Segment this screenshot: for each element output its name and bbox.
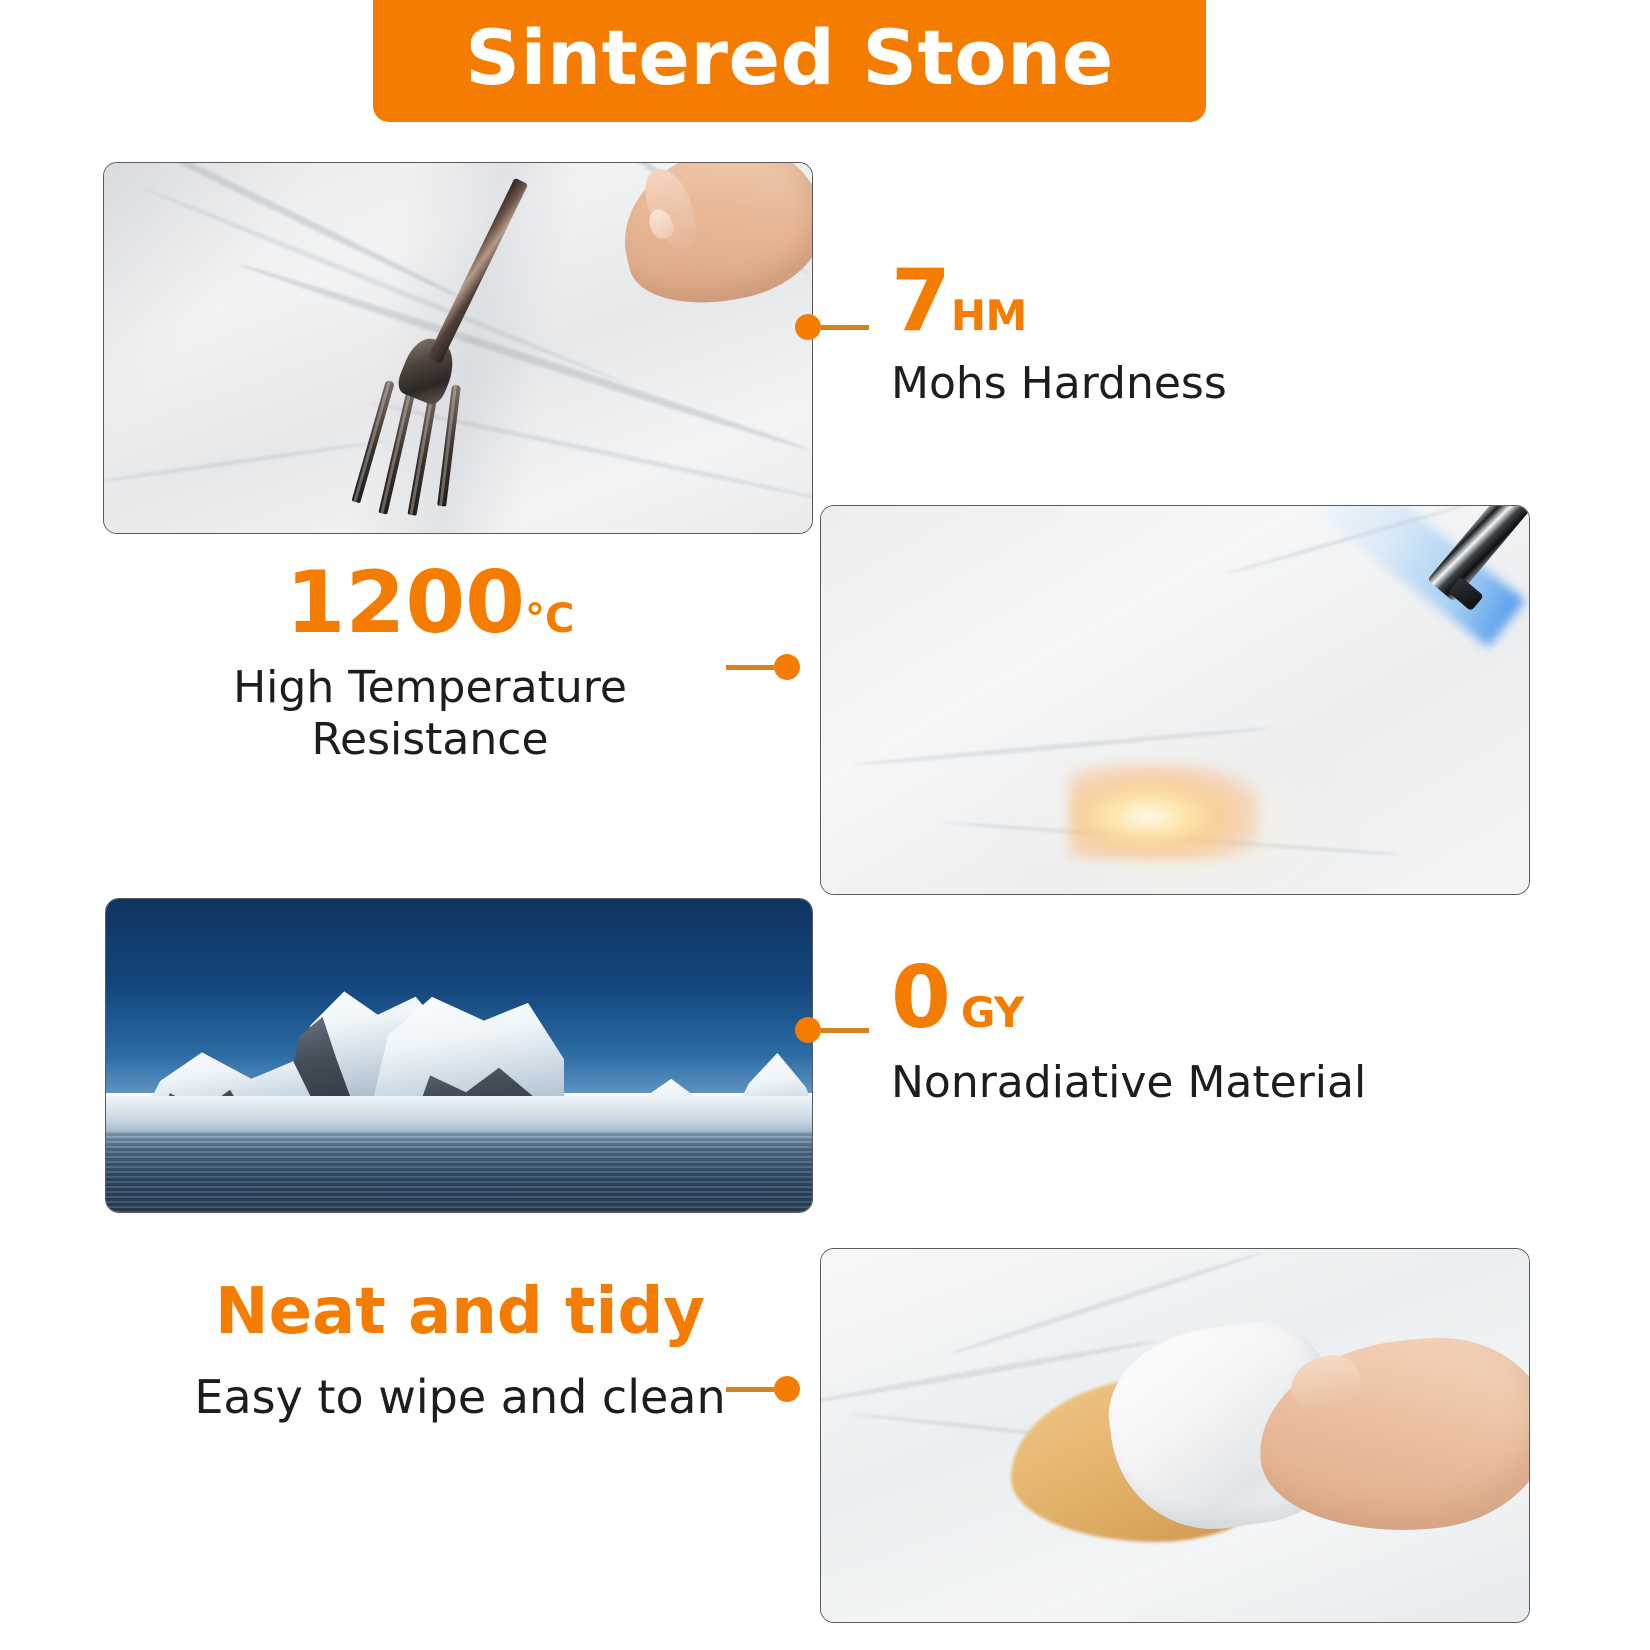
stat-number: 0 [891, 948, 951, 1048]
stat-number: 7 [891, 251, 951, 351]
page-title-banner: Sintered Stone [373, 0, 1206, 122]
stat-unit: HM [951, 291, 1027, 340]
connector-mohs [795, 314, 869, 340]
subtext-clean: Easy to wipe and clean [120, 1370, 800, 1424]
stat-label-line1: High Temperature [180, 662, 680, 714]
stat-label-line2: Resistance [180, 714, 680, 766]
stat-unit: GY [961, 988, 1024, 1037]
feature-callout-radiation: 0GY Nonradiative Material [795, 955, 1366, 1109]
stat-label-mohs: Mohs Hardness [891, 358, 1227, 410]
connector-dot-icon [795, 1017, 821, 1043]
feature-callout-temperature: 1200°C High Temperature Resistance [180, 560, 800, 766]
feature-callout-mohs: 7HM Mohs Hardness [795, 258, 1227, 410]
connector-radiation [795, 1017, 869, 1043]
blowtorch-flame-marble-photo [820, 505, 1530, 895]
connector-line-icon [821, 325, 869, 330]
connector-line-icon [726, 665, 774, 670]
stat-label-temperature: High Temperature Resistance [180, 662, 680, 766]
headline-clean: Neat and tidy [120, 1280, 800, 1344]
stat-value-temperature: 1200°C [180, 560, 680, 646]
connector-dot-icon [795, 314, 821, 340]
feature-callout-clean: Neat and tidy Easy to wipe and clean [120, 1280, 800, 1424]
connector-line-icon [821, 1028, 869, 1033]
connector-dot-icon [774, 654, 800, 680]
stat-value-radiation: 0GY [891, 955, 1366, 1041]
stat-number: 1200 [286, 553, 525, 653]
water-reflection [106, 1131, 812, 1212]
connector-dot-icon [774, 1376, 800, 1402]
glacier-ice-shelf [106, 1096, 812, 1134]
fork-scratching-marble-photo [103, 162, 813, 534]
connector-line-icon [726, 1387, 774, 1392]
connector-temperature [726, 654, 800, 680]
page-title: Sintered Stone [465, 20, 1114, 96]
stat-label-radiation: Nonradiative Material [891, 1057, 1366, 1109]
antarctic-glacier-photo [105, 898, 813, 1213]
wiping-stain-marble-photo [820, 1248, 1530, 1623]
hot-spot-glow [1069, 764, 1259, 859]
stat-unit: °C [525, 596, 574, 642]
connector-clean [726, 1376, 800, 1402]
stat-value-mohs: 7HM [891, 258, 1227, 344]
